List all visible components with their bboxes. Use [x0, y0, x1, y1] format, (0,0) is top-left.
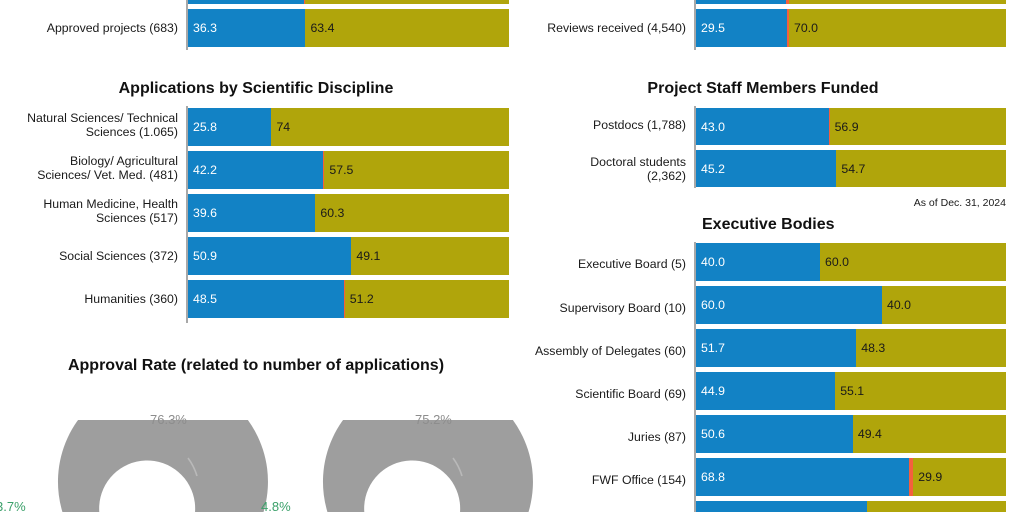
bar-value-women: 60.0 — [701, 298, 725, 312]
bar-segment-women: 45.2 — [696, 150, 836, 187]
bar-segment-women: 44.9 — [696, 372, 835, 410]
chart-title-approval-rate: Approval Rate (related to number of appl… — [0, 357, 512, 375]
bar-segment-men: 48.3 — [856, 329, 1006, 367]
bar-value-women: 45.2 — [701, 162, 725, 176]
bar-segment-women — [188, 0, 304, 4]
table-row[interactable]: 42.2 57.5 — [188, 151, 509, 189]
bar-segment-men: 49.4 — [853, 415, 1006, 453]
bar-segment-women — [696, 0, 786, 4]
chart-executive-bodies: Executive Bodies Executive Board (5) 40.… — [512, 216, 1024, 512]
bar-value-women: 29.5 — [701, 21, 725, 35]
bar-segment-men: 63.4 — [305, 9, 509, 47]
bar-value-women: 25.8 — [193, 120, 217, 134]
bar-value-women: 42.2 — [193, 163, 217, 177]
bar-value-men: 48.3 — [861, 341, 885, 355]
bar-value-men: 60.0 — [825, 255, 849, 269]
bar-value-men: 57.5 — [329, 163, 353, 177]
bar-value-women: 44.9 — [701, 384, 725, 398]
row-label-natural-sciences: Natural Sciences/ Technical Sciences (1.… — [0, 111, 178, 139]
bar-value-men: 55.1 — [840, 384, 864, 398]
bar-value-women: 68.8 — [701, 470, 725, 484]
bar-segment-women — [696, 501, 867, 512]
chart-applications-by-discipline: Applications by Scientific Discipline Na… — [0, 80, 512, 325]
table-row[interactable]: 25.8 74 — [188, 108, 509, 146]
bar-segment-men: 29.9 — [913, 458, 1006, 496]
bar-segment-men: 40.0 — [882, 286, 1006, 324]
bar-value-men: 49.4 — [858, 427, 882, 441]
bar-value-men: 60.3 — [320, 206, 344, 220]
table-row[interactable]: 50.6 49.4 — [696, 415, 1006, 453]
table-row[interactable]: 60.0 40.0 — [696, 286, 1006, 324]
bar-value-men: 63.4 — [310, 21, 334, 35]
row-label-postdocs: Postdocs (1,788) — [512, 118, 686, 132]
chart-title-executive-bodies: Executive Bodies — [702, 216, 1022, 234]
donut-chart-approval-1[interactable]: 76.3% 3.7%oved — [20, 420, 270, 512]
bar-value-women: 39.6 — [193, 206, 217, 220]
bar-segment-men — [305, 0, 509, 4]
bar-segment-men: 51.2 — [345, 280, 509, 318]
bar-segment-women: 40.0 — [696, 243, 820, 281]
bar-segment-women: 42.2 — [188, 151, 323, 189]
infographic-canvas: Approved projects (683) 36.3 63.4 Review… — [0, 0, 1024, 512]
bar-value-men: 29.9 — [918, 470, 942, 484]
bar-value-women: 36.3 — [193, 21, 217, 35]
bar-segment-men: 74 — [271, 108, 509, 146]
donut-approved-pct-2: 4.8% — [261, 499, 291, 512]
row-label-doctoral-students: Doctoral students (2,362) — [512, 155, 686, 183]
donut-approved-pct-1: 3.7% — [0, 499, 26, 512]
table-row[interactable]: 36.3 63.4 — [188, 9, 509, 47]
bar-value-men: 51.2 — [350, 292, 374, 306]
chart-title-applications-by-discipline: Applications by Scientific Discipline — [0, 80, 512, 98]
chart-applications-overview-right: Reviews received (4,540) 29.5 70.0 — [512, 0, 1024, 55]
table-row[interactable] — [188, 0, 509, 4]
bar-value-women: 48.5 — [193, 292, 217, 306]
bar-segment-women: 36.3 — [188, 9, 305, 47]
bar-segment-women: 60.0 — [696, 286, 882, 324]
bar-segment-men: 70.0 — [789, 9, 1006, 47]
bar-value-women: 50.6 — [701, 427, 725, 441]
bar-segment-men: 55.1 — [835, 372, 1006, 410]
table-row[interactable]: 39.6 60.3 — [188, 194, 509, 232]
donut-label-approved-1: 3.7%oved — [0, 499, 26, 512]
chart-title-project-staff-funded: Project Staff Members Funded — [512, 80, 1014, 98]
bar-segment-women: 50.6 — [696, 415, 853, 453]
table-row[interactable]: 43.0 56.9 — [696, 108, 1006, 145]
bar-segment-women: 43.0 — [696, 108, 829, 145]
row-label-social-sciences: Social Sciences (372) — [0, 249, 178, 263]
table-row[interactable]: 45.2 54.7 — [696, 150, 1006, 187]
bar-value-men: 49.1 — [356, 249, 380, 263]
bar-value-men: 54.7 — [841, 162, 865, 176]
bar-segment-men — [789, 0, 1006, 4]
bar-value-women: 51.7 — [701, 341, 725, 355]
chart-approval-rate: Approval Rate (related to number of appl… — [0, 345, 560, 512]
table-row[interactable]: 44.9 55.1 — [696, 372, 1006, 410]
table-row[interactable]: 40.0 60.0 — [696, 243, 1006, 281]
donut-chart-approval-2[interactable]: 75.2% 4.8%oved — [285, 420, 535, 512]
bar-value-men: 70.0 — [794, 21, 818, 35]
bar-value-men: 56.9 — [835, 120, 859, 134]
donut-slice-not-approved — [58, 420, 268, 512]
donut-label-not-approved-2: 75.2% — [415, 412, 452, 427]
bar-segment-men: 49.1 — [351, 237, 509, 275]
row-label-executive-board: Executive Board (5) — [512, 257, 686, 271]
row-label-human-medicine: Human Medicine, Health Sciences (517) — [0, 197, 178, 225]
chart-project-staff-funded: Project Staff Members Funded Postdocs (1… — [512, 80, 1024, 215]
bar-segment-women: 25.8 — [188, 108, 271, 146]
bar-value-men: 74 — [276, 120, 290, 134]
bar-segment-women: 50.9 — [188, 237, 351, 275]
bar-segment-women: 48.5 — [188, 280, 344, 318]
row-label-supervisory-board: Supervisory Board (10) — [512, 301, 686, 315]
bar-segment-women: 29.5 — [696, 9, 787, 47]
table-row[interactable] — [696, 501, 1006, 512]
donut-slice-not-approved — [323, 420, 533, 512]
donut-label-not-approved-1: 76.3% — [150, 412, 187, 427]
bar-segment-women: 68.8 — [696, 458, 909, 496]
chart-applications-overview-left: Approved projects (683) 36.3 63.4 — [0, 0, 512, 55]
bar-value-women: 50.9 — [193, 249, 217, 263]
table-row[interactable]: 51.7 48.3 — [696, 329, 1006, 367]
bar-value-women: 43.0 — [701, 120, 725, 134]
chart-footnote-as-of-date: As of Dec. 31, 2024 — [512, 197, 1006, 209]
donut-svg-2 — [285, 420, 535, 512]
bar-segment-women: 51.7 — [696, 329, 856, 367]
bar-value-men: 40.0 — [887, 298, 911, 312]
bar-segment-men: 54.7 — [836, 150, 1006, 187]
table-row[interactable] — [696, 0, 1006, 4]
bar-value-women: 40.0 — [701, 255, 725, 269]
bar-segment-women: 39.6 — [188, 194, 315, 232]
table-row[interactable]: 29.5 70.0 — [696, 9, 1006, 47]
row-label-approved-projects: Approved projects (683) — [0, 21, 178, 35]
donut-label-approved-2: 4.8%oved — [261, 499, 291, 512]
table-row[interactable]: 68.8 29.9 — [696, 458, 1006, 496]
table-row[interactable]: 48.5 51.2 — [188, 280, 509, 318]
bar-segment-men: 60.3 — [315, 194, 509, 232]
row-label-biology-agricultural: Biology/ Agricultural Sciences/ Vet. Med… — [0, 154, 178, 182]
donut-svg-1 — [20, 420, 270, 512]
row-label-humanities: Humanities (360) — [0, 292, 178, 306]
bar-segment-men: 56.9 — [830, 108, 1006, 145]
bar-segment-men: 57.5 — [324, 151, 509, 189]
row-label-reviews-received: Reviews received (4,540) — [512, 21, 686, 35]
bar-segment-men: 60.0 — [820, 243, 1006, 281]
bar-segment-men — [867, 501, 1007, 512]
table-row[interactable]: 50.9 49.1 — [188, 237, 509, 275]
